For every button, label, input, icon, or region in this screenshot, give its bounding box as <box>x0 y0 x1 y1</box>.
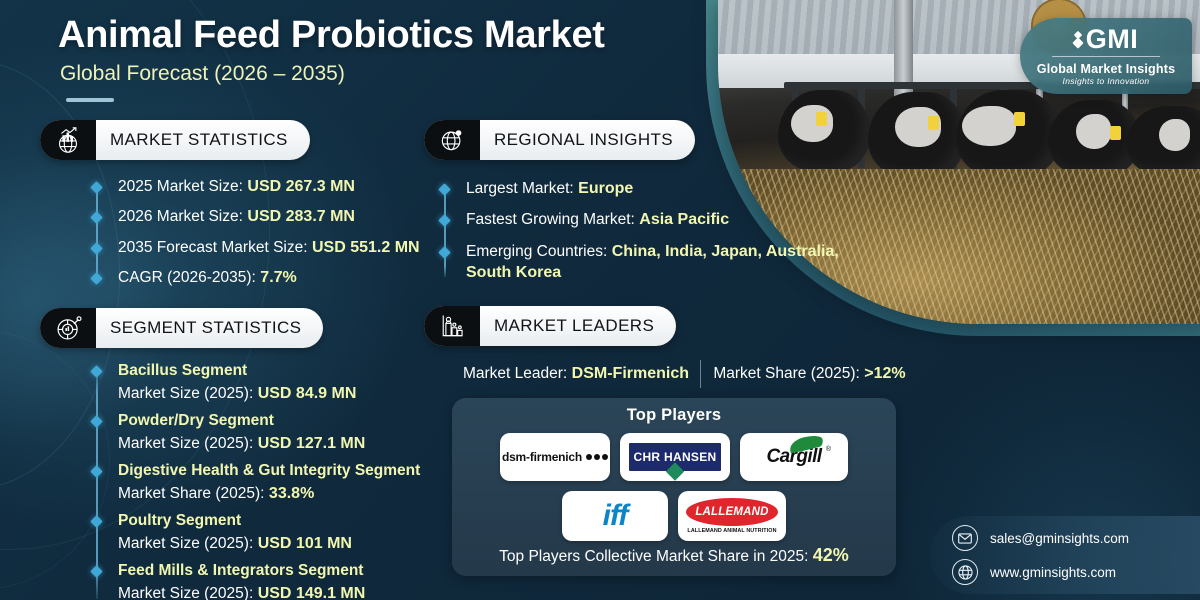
region-label: Fastest Growing Market: <box>466 211 635 228</box>
brand-tagline: Insights to Innovation <box>1063 76 1150 86</box>
list-item: Poultry Segment <box>96 510 496 531</box>
bullet-diamond-icon <box>90 212 103 225</box>
segment-name: Powder/Dry Segment <box>118 412 274 429</box>
market-statistics-list: 2025 Market Size: USD 267.3 MN 2026 Mark… <box>96 176 426 289</box>
segment-metric-label: Market Size (2025): <box>118 535 253 552</box>
gmi-diamond-icon <box>1074 32 1082 47</box>
market-leader-row: Market Leader: DSM-Firmenich Market Shar… <box>452 360 918 388</box>
bullet-diamond-icon <box>90 465 103 478</box>
dsm-firmenich-logo: dsm-firmenich <box>500 433 610 481</box>
list-item: Largest Market: Europe <box>444 178 864 199</box>
segment-metric-value: USD 149.1 MN <box>258 585 366 600</box>
gmi-logo: GMI Global Market Insights Insights to I… <box>1020 18 1192 94</box>
section-header-market-statistics: MARKET STATISTICS <box>40 120 310 160</box>
contact-email: sales@gminsights.com <box>990 531 1129 546</box>
logo-text: dsm-firmenich <box>502 450 582 464</box>
section-header-market-leaders: MARKET LEADERS <box>424 306 676 346</box>
brand-full-name: Global Market Insights <box>1037 62 1175 76</box>
market-leader-label: Market Leader: <box>463 365 567 382</box>
collective-share-row: Top Players Collective Market Share in 2… <box>452 545 896 566</box>
region-label: Emerging Countries: <box>466 243 607 260</box>
section-title: REGIONAL INSIGHTS <box>480 130 695 150</box>
logo-text: iff <box>603 501 628 531</box>
top-players-logo-grid: dsm-firmenich CHR HANSEN Cargill® iff LA… <box>452 433 896 541</box>
region-label: Largest Market: <box>466 180 574 197</box>
globe-icon <box>952 559 978 585</box>
segment-metric-label: Market Size (2025): <box>118 385 253 402</box>
segment-metric-label: Market Size (2025): <box>118 435 253 452</box>
contact-email-row[interactable]: sales@gminsights.com <box>952 525 1200 551</box>
contact-website-row[interactable]: www.gminsights.com <box>952 559 1200 585</box>
list-item: Powder/Dry Segment <box>96 410 496 431</box>
section-title: MARKET LEADERS <box>480 316 676 336</box>
segment-metric: Market Size (2025): USD 149.1 MN <box>96 583 496 600</box>
title-accent-rule <box>66 98 114 102</box>
list-item: CAGR (2026-2035): 7.7% <box>96 267 426 288</box>
segment-name: Digestive Health & Gut Integrity Segment <box>118 462 420 479</box>
infographic-root: GMI Global Market Insights Insights to I… <box>0 0 1200 600</box>
list-item: 2025 Market Size: USD 267.3 MN <box>96 176 426 197</box>
market-share-label: Market Share (2025): <box>713 365 859 382</box>
dsm-dots-icon <box>586 454 608 460</box>
top-players-title: Top Players <box>452 406 896 425</box>
list-item: 2026 Market Size: USD 283.7 MN <box>96 206 426 227</box>
bullet-diamond-icon <box>438 246 451 259</box>
segment-metric-value: USD 84.9 MN <box>258 385 357 402</box>
logo-text: LALLEMAND <box>695 506 768 518</box>
market-leader-block: Market Leader: DSM-Firmenich <box>452 365 700 383</box>
logo-subtitle: LALLEMAND ANIMAL NUTRITION <box>687 528 776 534</box>
segment-metric-label: Market Size (2025): <box>118 585 253 600</box>
stat-label: 2025 Market Size: <box>118 178 243 195</box>
segment-metric: Market Size (2025): USD 127.1 MN <box>96 433 496 454</box>
donut-chart-icon <box>40 308 96 348</box>
bullet-diamond-icon <box>90 515 103 528</box>
bullet-diamond-icon <box>438 215 451 228</box>
segment-metric-value: USD 127.1 MN <box>258 435 366 452</box>
collective-share-value: 42% <box>813 545 849 565</box>
market-share-block: Market Share (2025): >12% <box>701 365 918 383</box>
segment-metric: Market Share (2025): 33.8% <box>96 483 496 504</box>
globe-bar-chart-icon <box>40 120 96 160</box>
bullet-diamond-icon <box>90 365 103 378</box>
section-header-segment-statistics: SEGMENT STATISTICS <box>40 308 323 348</box>
stat-value: USD 551.2 MN <box>312 239 420 256</box>
page-subtitle: Global Forecast (2026 – 2035) <box>60 62 345 86</box>
chr-hansen-logo: CHR HANSEN <box>620 433 730 481</box>
regional-insights-list: Largest Market: Europe Fastest Growing M… <box>444 178 864 283</box>
bullet-diamond-icon <box>90 181 103 194</box>
section-header-regional-insights: REGIONAL INSIGHTS <box>424 120 695 160</box>
brand-abbrev: GMI <box>1086 26 1139 53</box>
market-share-value: >12% <box>864 365 905 382</box>
podium-leaderboard-icon <box>424 306 480 346</box>
contact-website: www.gminsights.com <box>990 565 1116 580</box>
globe-pin-icon <box>424 120 480 160</box>
list-item: Feed Mills & Integrators Segment <box>96 560 496 581</box>
lallemand-logo: LALLEMAND LALLEMAND ANIMAL NUTRITION <box>678 491 786 541</box>
bullet-diamond-icon <box>90 242 103 255</box>
segment-metric-value: USD 101 MN <box>258 535 352 552</box>
stat-value: 7.7% <box>260 269 296 286</box>
bullet-diamond-icon <box>438 183 451 196</box>
segment-name: Feed Mills & Integrators Segment <box>118 562 363 579</box>
segment-name: Bacillus Segment <box>118 362 247 379</box>
section-title: MARKET STATISTICS <box>96 130 310 150</box>
chr-hansen-diamond-icon <box>666 462 684 480</box>
list-item: 2035 Forecast Market Size: USD 551.2 MN <box>96 237 426 258</box>
bullet-diamond-icon <box>90 415 103 428</box>
market-leader-value: DSM-Firmenich <box>572 365 689 382</box>
stat-label: 2035 Forecast Market Size: <box>118 239 308 256</box>
logo-divider <box>1052 56 1160 57</box>
segment-statistics-list: Bacillus Segment Market Size (2025): USD… <box>96 360 496 600</box>
contact-panel: sales@gminsights.com www.gminsights.com <box>930 516 1200 594</box>
stat-value: USD 267.3 MN <box>247 178 355 195</box>
stat-label: 2026 Market Size: <box>118 208 243 225</box>
bullet-diamond-icon <box>90 272 103 285</box>
cargill-logo: Cargill® <box>740 433 848 481</box>
iff-logo: iff <box>562 491 668 541</box>
segment-metric-label: Market Share (2025): <box>118 485 264 502</box>
bullet-diamond-icon <box>90 565 103 578</box>
region-value: Europe <box>578 180 633 197</box>
region-value: Asia Pacific <box>639 211 729 228</box>
list-item: Digestive Health & Gut Integrity Segment <box>96 460 496 481</box>
stat-label: CAGR (2026-2035): <box>118 269 256 286</box>
list-item: Emerging Countries: China, India, Japan,… <box>444 241 864 284</box>
list-item: Bacillus Segment <box>96 360 496 381</box>
list-item: Fastest Growing Market: Asia Pacific <box>444 209 864 230</box>
stat-value: USD 283.7 MN <box>247 208 355 225</box>
segment-metric: Market Size (2025): USD 101 MN <box>96 533 496 554</box>
segment-metric: Market Size (2025): USD 84.9 MN <box>96 383 496 404</box>
section-title: SEGMENT STATISTICS <box>96 318 323 338</box>
page-title: Animal Feed Probiotics Market <box>58 14 605 57</box>
segment-name: Poultry Segment <box>118 512 241 529</box>
envelope-icon <box>952 525 978 551</box>
collective-share-label: Top Players Collective Market Share in 2… <box>499 548 808 565</box>
segment-metric-value: 33.8% <box>269 485 314 502</box>
